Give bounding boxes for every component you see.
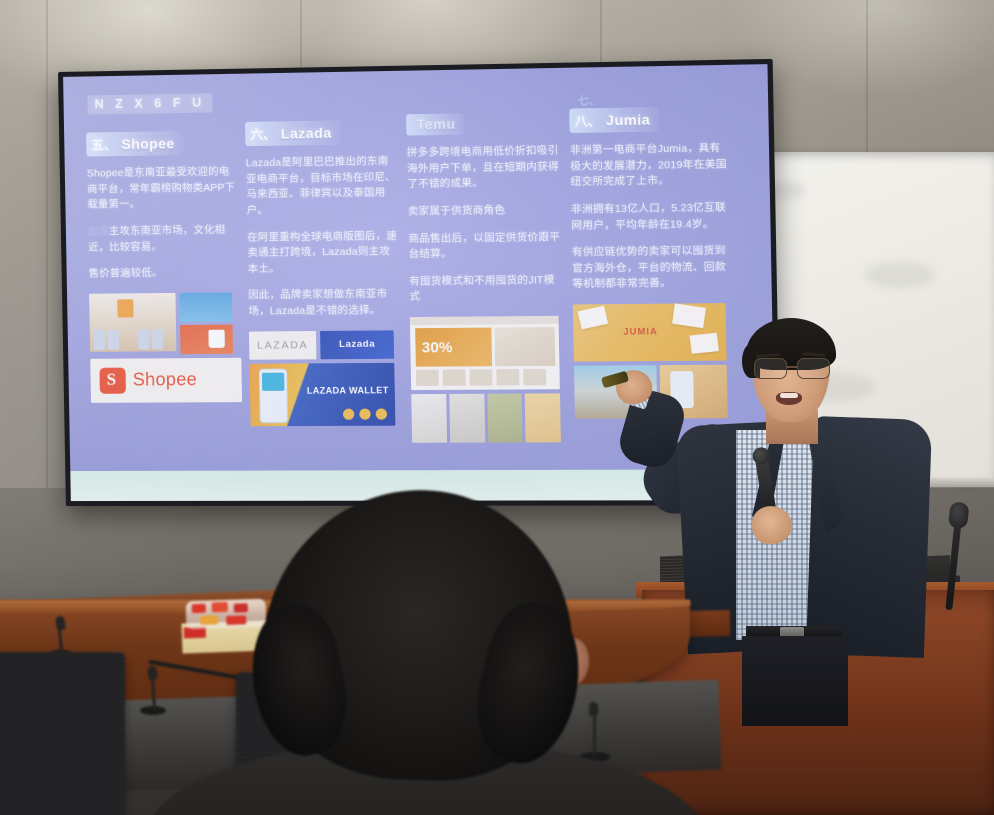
temu-promo-value: 30% xyxy=(422,339,453,356)
temu-storefront-screenshot: 30% xyxy=(410,316,560,390)
shopee-blue-tile xyxy=(179,292,232,322)
presenter-trousers xyxy=(742,636,848,726)
column-heading: 五、 Shopee xyxy=(86,131,183,157)
presenter xyxy=(660,318,960,648)
shopee-wordmark: Shopee xyxy=(133,369,198,390)
column-title: Lazada xyxy=(281,124,332,141)
column-paragraph: 因此，品牌卖家想做东南亚市场，Lazada是不错的选择。 xyxy=(248,287,402,320)
slide-image-group xyxy=(89,292,241,355)
column-paragraph: 拼多多跨境电商用低价折扣吸引海外用户下单，且在短期内获得了不错的成果。 xyxy=(407,143,563,193)
ghost-column-number: 七、 xyxy=(577,92,600,109)
column-paragraph: 出海主攻东南亚市场，文化相近，比较容易。 xyxy=(88,223,240,256)
presentation-photo-scene: N Z X 6 F U 五、 Shopee Shopee是东南亚最受欢迎的电商平… xyxy=(0,0,994,815)
lazada-logo-label: Lazada xyxy=(339,339,375,350)
column-heading: 六、 Lazada xyxy=(245,120,340,146)
column-paragraph: Shopee是东南亚最受欢迎的电商平台，常年霸榜购物类APP下载量第一。 xyxy=(87,164,239,213)
column-title: Jumia xyxy=(606,111,651,128)
shopee-orange-bag-tile xyxy=(180,324,233,354)
column-paragraph: 有囤货模式和不用囤货的JIT模式 xyxy=(409,273,565,306)
slide-image-group: 30% xyxy=(410,316,566,390)
slide-image-group: Shopee xyxy=(90,358,242,403)
slide-image-group: LAZADA WALLET xyxy=(249,363,403,426)
column-number: 六、 xyxy=(250,123,276,143)
column-paragraph: 非洲拥有13亿人口，5.23亿互联网用户，平均年龄在19.4岁。 xyxy=(571,200,728,234)
column-title: Temu xyxy=(416,116,455,133)
eyeglasses-icon xyxy=(752,358,832,378)
slide-column-shopee: 五、 Shopee Shopee是东南亚最受欢迎的电商平台，常年霸榜购物类APP… xyxy=(86,114,243,444)
column-paragraph: 在阿里重构全球电商版图后，速卖通主打跨境，Lazada则主攻本土。 xyxy=(247,229,401,278)
shopee-logo-card: Shopee xyxy=(90,358,242,403)
shopee-bag-icon xyxy=(99,367,126,393)
mesh-office-chair[interactable] xyxy=(0,652,125,815)
column-paragraph: 非洲第一电商平台Jumia，具有极大的发展潜力，2019年在美国纽交所完成了上市… xyxy=(570,141,728,191)
slide-watermark: N Z X 6 F U xyxy=(87,93,212,114)
column-paragraph: 售价普遍较低。 xyxy=(89,265,240,282)
seated-attendee xyxy=(245,490,595,815)
column-heading: 八、 Jumia xyxy=(569,107,659,133)
lazada-logo-card: Lazada xyxy=(320,330,394,359)
ghost-text: 出海 xyxy=(88,226,109,237)
lazada-wordmark: LAZADA xyxy=(257,339,308,351)
attendee-hair xyxy=(258,485,578,786)
slide-column-lazada: 六、 Lazada Lazada是阿里巴巴推出的东南亚电商平台，目标市场在印尼、… xyxy=(245,111,404,443)
column-number: 八、 xyxy=(574,110,600,130)
column-paragraph: 卖家属于供货商角色 xyxy=(408,202,563,220)
temu-app-screens-strip xyxy=(411,393,561,442)
slide-image-group xyxy=(411,393,567,443)
column-title: Shopee xyxy=(121,135,175,152)
jumia-brand-tag: JUMIA xyxy=(623,326,658,337)
column-heading: Temu xyxy=(406,113,464,135)
column-paragraph: 有供应链优势的卖家可以囤货到官方海外仓，平台的物流、回款等机制都非常完善。 xyxy=(572,244,730,294)
presenter-mouth xyxy=(776,392,802,405)
column-paragraph: Lazada是阿里巴巴推出的东南亚电商平台，目标市场在印尼、马来西亚、菲律宾以及… xyxy=(246,154,400,219)
column-paragraph: 商品售出后，以固定供货价跟平台结算。 xyxy=(408,230,563,264)
slide-image-group: LAZADA Lazada xyxy=(249,330,402,359)
slide-column-temu: Temu 拼多多跨境电商用低价折扣吸引海外用户下单，且在短期内获得了不错的成果。… xyxy=(406,109,567,443)
shopee-team-photo xyxy=(89,293,176,352)
column-number: 五、 xyxy=(91,134,116,153)
lazada-wallet-banner: LAZADA WALLET xyxy=(249,363,395,426)
lazada-wallet-label: LAZADA WALLET xyxy=(307,385,389,396)
lazada-wordmark-card: LAZADA xyxy=(249,331,317,360)
